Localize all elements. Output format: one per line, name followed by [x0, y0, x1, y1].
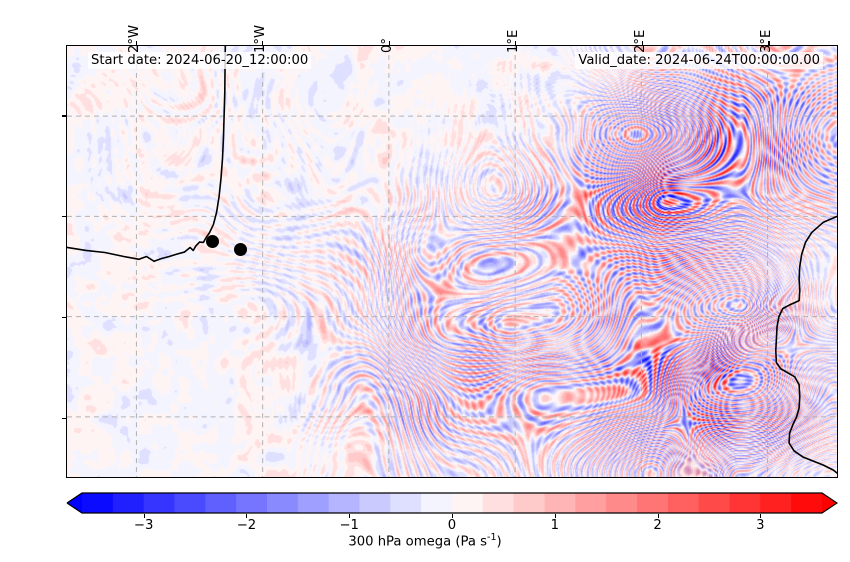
colorbar-tick-mark	[144, 514, 145, 518]
lat-tick-mark	[62, 216, 66, 217]
colorbar-title-main: 300 hPa omega (Pa s	[348, 534, 487, 549]
colorbar-tick-mark	[349, 514, 350, 518]
map-axes[interactable]: Start date: 2024-06-20_12:00:00 Valid_da…	[66, 45, 838, 478]
lat-tick-mark	[62, 317, 66, 318]
valid-date-label: Valid_date: 2024-06-24T00:00:00.00	[575, 52, 823, 69]
lon-tick-label: 2°E	[633, 30, 648, 53]
colorbar-tick-label: −1	[339, 518, 358, 533]
colorbar-tick-label: −2	[237, 518, 256, 533]
colorbar-tick-mark	[658, 514, 659, 518]
lon-tick-mark	[642, 41, 643, 45]
lat-tick-mark	[62, 115, 66, 116]
station-marker-2[interactable]	[234, 243, 247, 256]
lon-tick-label: 3°E	[759, 30, 774, 53]
coastline-overlay	[67, 46, 837, 477]
colorbar-title-exponent: -1	[487, 532, 496, 543]
lon-tick-mark	[136, 41, 137, 45]
colorbar-tick-mark	[760, 514, 761, 518]
lon-tick-mark	[515, 41, 516, 45]
colorbar[interactable]	[66, 492, 838, 514]
lon-tick-mark	[389, 41, 390, 45]
start-date-label: Start date: 2024-06-20_12:00:00	[88, 52, 311, 69]
lon-tick-label: 1°W	[253, 25, 268, 53]
station-marker-1[interactable]	[206, 235, 219, 248]
colorbar-title-tail: )	[497, 534, 502, 549]
colorbar-gradient	[66, 492, 838, 514]
lon-tick-label: 0°	[380, 38, 395, 53]
colorbar-tick-label: 0	[448, 518, 456, 533]
colorbar-title: 300 hPa omega (Pa s-1)	[0, 532, 850, 549]
colorbar-tick-label: 1	[551, 518, 559, 533]
colorbar-tick-label: 2	[653, 518, 661, 533]
lat-tick-mark	[62, 418, 66, 419]
colorbar-tick-mark	[452, 514, 453, 518]
colorbar-tick-label: −3	[134, 518, 153, 533]
colorbar-tick-mark	[246, 514, 247, 518]
colorbar-tick-mark	[555, 514, 556, 518]
figure-canvas: Start date: 2024-06-20_12:00:00 Valid_da…	[0, 0, 850, 562]
colorbar-tick-label: 3	[756, 518, 764, 533]
lon-tick-label: 1°E	[506, 30, 521, 53]
lon-tick-mark	[768, 41, 769, 45]
lon-tick-label: 2°W	[127, 25, 142, 53]
lon-tick-mark	[262, 41, 263, 45]
